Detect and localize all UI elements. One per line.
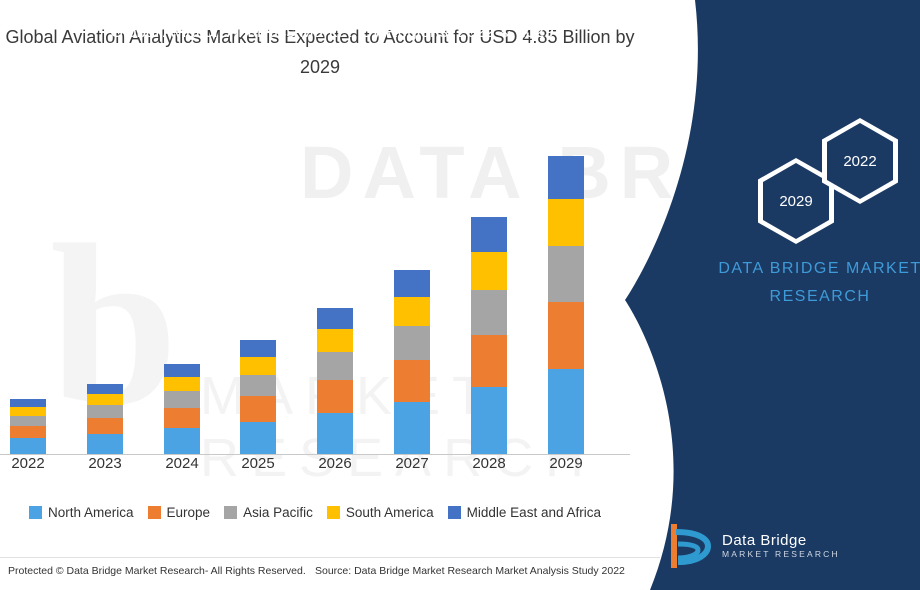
legend-item[interactable]: Middle East and Africa <box>448 505 601 520</box>
bar-segment <box>164 391 200 408</box>
bar-segment <box>317 413 353 454</box>
footer-source: Source: Data Bridge Market Research Mark… <box>315 565 625 577</box>
bar-group <box>10 399 46 454</box>
x-axis-tick-label: 2024 <box>142 455 222 472</box>
bar-segment <box>317 308 353 329</box>
bar-segment <box>240 396 276 422</box>
bar-segment <box>87 434 123 454</box>
bar-segment <box>394 270 430 297</box>
bar-segment <box>240 422 276 454</box>
legend-item[interactable]: Europe <box>148 505 211 520</box>
legend-label: Europe <box>167 505 211 520</box>
bar-group <box>471 217 507 454</box>
dbmr-logo-line-1: Data Bridge <box>722 532 840 549</box>
bar-segment <box>240 375 276 396</box>
legend-item[interactable]: Asia Pacific <box>224 505 313 520</box>
bar-segment <box>87 418 123 434</box>
bar-segment <box>471 335 507 387</box>
legend-label: North America <box>48 505 134 520</box>
legend-swatch <box>148 506 161 519</box>
bar-segment <box>10 416 46 426</box>
bar-segment <box>548 302 584 369</box>
bar-segment <box>87 394 123 405</box>
bar-segment <box>317 352 353 380</box>
legend-label: Middle East and Africa <box>467 505 601 520</box>
chart-plot-area <box>0 120 630 455</box>
legend-item[interactable]: North America <box>29 505 134 520</box>
x-axis-tick-label: 2026 <box>295 455 375 472</box>
legend-swatch <box>448 506 461 519</box>
hexagon-badge-2022-label: 2022 <box>827 123 893 199</box>
bar-group <box>317 308 353 454</box>
bar-segment <box>164 408 200 428</box>
x-axis-tick-label: 2028 <box>449 455 529 472</box>
x-axis-tick-label: 2023 <box>65 455 145 472</box>
bar-segment <box>240 340 276 357</box>
legend-swatch <box>29 506 42 519</box>
bar-group <box>548 156 584 454</box>
brand-wordmark: DATA BRIDGE MARKET RESEARCH <box>700 255 920 311</box>
bar-segment <box>471 217 507 252</box>
bar-segment <box>548 156 584 200</box>
bar-segment <box>471 252 507 290</box>
bar-segment <box>394 402 430 454</box>
brand-wordmark-line-2: RESEARCH <box>700 283 920 311</box>
bar-segment <box>10 407 46 416</box>
bar-segment <box>87 384 123 394</box>
dbmr-logo-line-2: MARKET RESEARCH <box>722 550 840 560</box>
bar-segment <box>394 326 430 361</box>
bar-segment <box>548 246 584 302</box>
legend-label: South America <box>346 505 434 520</box>
bar-segment <box>394 297 430 326</box>
bar-segment <box>87 405 123 418</box>
bar-segment <box>471 290 507 335</box>
x-axis-tick-label: 2029 <box>526 455 606 472</box>
legend-swatch <box>224 506 237 519</box>
legend-label: Asia Pacific <box>243 505 313 520</box>
x-axis-tick-label: 2027 <box>372 455 452 472</box>
dbmr-logo-text: Data Bridge MARKET RESEARCH <box>722 532 840 559</box>
chart-legend: North AmericaEuropeAsia PacificSouth Ame… <box>0 505 630 520</box>
bar-group <box>87 384 123 454</box>
dbmr-logo-icon <box>668 522 712 570</box>
bar-segment <box>10 426 46 438</box>
bar-segment <box>164 428 200 454</box>
bar-segment <box>317 329 353 352</box>
dbmr-logo: Data Bridge MARKET RESEARCH <box>668 522 840 570</box>
bar-segment <box>164 364 200 377</box>
bar-segment <box>240 357 276 375</box>
legend-item[interactable]: South America <box>327 505 434 520</box>
footer-divider <box>0 557 660 558</box>
bar-segment <box>548 199 584 246</box>
bar-group <box>394 270 430 454</box>
bar-segment <box>10 438 46 454</box>
panel-title: Global Aviation Analytics Market, By Reg… <box>110 18 920 45</box>
x-axis-tick-label: 2022 <box>0 455 68 472</box>
x-axis-labels: 20222023202420252026202720282029 <box>0 455 630 481</box>
footer-copyright: Protected © Data Bridge Market Research-… <box>8 565 306 577</box>
bar-segment <box>10 399 46 407</box>
bar-segment <box>471 387 507 454</box>
bar-segment <box>317 380 353 412</box>
bar-group <box>164 364 200 454</box>
infographic-root: b DATA BRIDGE MARKET RESEARCH Global Avi… <box>0 0 920 590</box>
bar-segment <box>164 377 200 392</box>
x-axis-tick-label: 2025 <box>218 455 298 472</box>
legend-swatch <box>327 506 340 519</box>
brand-wordmark-line-1: DATA BRIDGE MARKET <box>700 255 920 283</box>
hexagon-badge-2029-label: 2029 <box>763 163 829 239</box>
bar-group <box>240 340 276 454</box>
bar-segment <box>394 360 430 401</box>
footer: Protected © Data Bridge Market Research-… <box>0 557 660 590</box>
bar-segment <box>548 369 584 454</box>
